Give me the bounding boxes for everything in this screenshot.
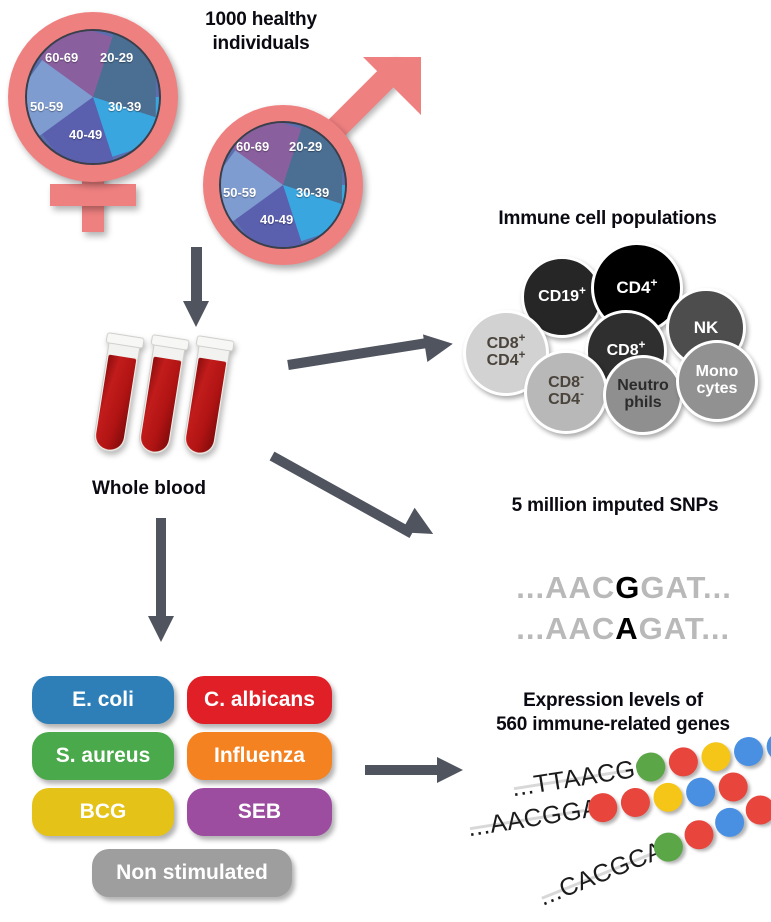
expression-bead xyxy=(741,791,771,829)
snp-suffix: GAT... xyxy=(639,611,731,646)
stimulus-label: E. coli xyxy=(72,688,134,712)
arrow-blood-to-immune xyxy=(288,330,463,390)
arrow-head xyxy=(401,508,440,547)
expression-heading-line2: 560 immune-related genes xyxy=(458,713,768,737)
female-age-label-50-59: 50-59 xyxy=(30,99,63,114)
expression-bead xyxy=(651,781,684,814)
female-age-label-40-49: 40-49 xyxy=(69,127,102,142)
stimulus-label: BCG xyxy=(80,800,127,824)
cell-label: CD8- CD4- xyxy=(548,375,584,408)
cell-bubble-cd8neg-cd4neg: CD8- CD4- xyxy=(524,350,608,434)
stimulus-label: S. aureus xyxy=(56,744,151,768)
male-age-label-20-29: 20-29 xyxy=(289,139,322,154)
page-title-line1: 1000 healthy xyxy=(168,8,354,32)
expression-heading-line1: Expression levels of xyxy=(458,689,768,713)
stimulus-influenza[interactable]: Influenza xyxy=(187,732,332,780)
stimulus-label: C. albicans xyxy=(204,688,315,712)
male-age-label-60-69: 60-69 xyxy=(236,139,269,154)
snp-sequence-row: ...AACAGAT... xyxy=(497,575,730,647)
expression-heading: Expression levels of 560 immune-related … xyxy=(458,689,768,737)
blood-tube xyxy=(92,332,142,454)
expression-bead xyxy=(711,804,749,842)
expression-bead xyxy=(732,735,765,768)
stimulus-label: Non stimulated xyxy=(116,861,268,885)
expression-bead xyxy=(765,730,771,763)
cell-label: Neutrophils xyxy=(617,378,669,411)
cell-label: CD19+ xyxy=(538,289,586,306)
cell-label: CD4+ xyxy=(616,279,657,297)
female-age-label-20-29: 20-29 xyxy=(100,50,133,65)
stimulus-e-coli[interactable]: E. coli xyxy=(32,676,174,724)
stimulus-label: SEB xyxy=(238,800,281,824)
arrow-shaft xyxy=(191,247,202,303)
expression-bead xyxy=(699,740,732,773)
cell-bubble-neutrophils: Neutrophils xyxy=(603,355,683,435)
stimulus-c-albicans[interactable]: C. albicans xyxy=(187,676,332,724)
arrow-shaft xyxy=(156,518,166,618)
immune-heading: Immune cell populations xyxy=(455,207,760,231)
expression-bead xyxy=(680,816,718,854)
arrow-shaft xyxy=(270,452,415,538)
expression-bead xyxy=(684,776,717,809)
arrow-head xyxy=(423,330,455,362)
arrow-blood-to-snps xyxy=(272,443,472,553)
snps-heading: 5 million imputed SNPs xyxy=(470,494,760,518)
whole-blood-label: Whole blood xyxy=(92,478,206,500)
male-age-label-30-39: 30-39 xyxy=(296,185,329,200)
cell-label: CD8+ CD4+ xyxy=(487,336,526,369)
arrow-head xyxy=(437,757,463,783)
stimulus-s-aureus[interactable]: S. aureus xyxy=(32,732,174,780)
stimulus-non-stimulated[interactable]: Non stimulated xyxy=(92,849,292,897)
male-age-label-40-49: 40-49 xyxy=(260,212,293,227)
page-title-line2: individuals xyxy=(168,32,354,56)
cell-label: Monocytes xyxy=(696,364,739,397)
male-age-label-50-59: 50-59 xyxy=(223,185,256,200)
arrow-shaft xyxy=(365,765,439,775)
cell-bubble-monocytes: Monocytes xyxy=(676,340,758,422)
arrow-shaft xyxy=(287,338,429,370)
blood-tube xyxy=(137,334,187,456)
stimulus-bcg[interactable]: BCG xyxy=(32,788,174,836)
expression-bead xyxy=(619,786,652,819)
female-symbol-crossbar xyxy=(50,184,136,206)
page-title: 1000 healthy individuals xyxy=(168,8,354,56)
arrow-head xyxy=(148,616,174,642)
snp-variant: A xyxy=(615,611,638,646)
arrow-head xyxy=(183,301,209,327)
stimulus-label: Influenza xyxy=(214,744,305,768)
stimulus-seb[interactable]: SEB xyxy=(187,788,332,836)
female-age-label-30-39: 30-39 xyxy=(108,99,141,114)
expression-bead xyxy=(667,745,700,778)
cell-label: NK xyxy=(694,319,719,337)
blood-tube xyxy=(182,335,232,457)
snp-prefix: ...AAC xyxy=(516,611,615,646)
female-age-label-60-69: 60-69 xyxy=(45,50,78,65)
